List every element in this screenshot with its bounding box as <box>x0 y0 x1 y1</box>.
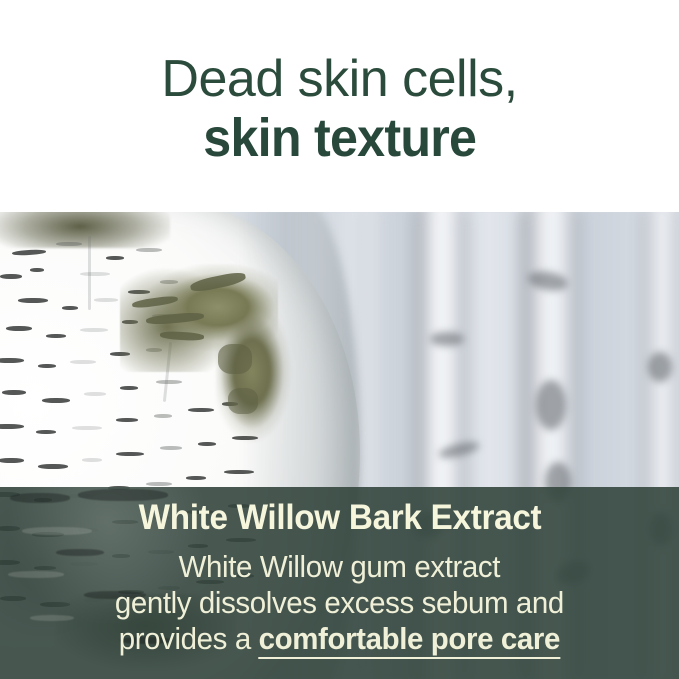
background-branch-mark <box>648 352 672 382</box>
description-line-3: provides a comfortable pore care <box>115 621 564 657</box>
bark-lenticel <box>160 446 182 450</box>
lichen-fragment <box>228 388 258 414</box>
bark-lenticel <box>224 470 254 474</box>
bark-crack <box>88 236 91 310</box>
bark-lenticel <box>62 306 78 310</box>
background-branch-mark <box>536 380 566 430</box>
ingredient-description: White Willow gum extract gently dissolve… <box>103 549 576 657</box>
bark-lenticel <box>0 358 24 363</box>
headline-line-1: Dead skin cells, <box>161 49 517 109</box>
ingredient-title: White Willow Bark Extract <box>138 496 541 540</box>
header-section: Dead skin cells, skin texture <box>0 0 679 212</box>
bark-lenticel <box>72 426 102 430</box>
bark-lenticel <box>82 458 102 462</box>
bark-lenticel <box>106 256 124 260</box>
bark-lenticel <box>36 430 56 434</box>
product-infographic: Dead skin cells, skin texture <box>0 0 679 679</box>
bark-lenticel <box>70 360 96 364</box>
bark-lenticel <box>94 298 118 302</box>
bark-lenticel <box>0 274 22 279</box>
headline-line-2: skin texture <box>203 107 476 169</box>
bark-lenticel <box>30 268 44 272</box>
bark-lenticel <box>46 334 66 338</box>
ingredient-info-panel: White Willow Bark Extract White Willow g… <box>0 487 679 679</box>
bark-lenticel <box>42 398 70 403</box>
description-line-2: gently dissolves excess sebum and <box>115 585 564 621</box>
bark-lenticel <box>56 242 82 246</box>
bark-lenticel <box>188 408 214 412</box>
bark-lenticel <box>198 442 216 446</box>
panel-content: White Willow Bark Extract White Willow g… <box>0 487 679 679</box>
bark-lenticel <box>146 482 172 486</box>
bark-lenticel <box>0 458 24 463</box>
lichen-patch-secondary <box>216 300 296 460</box>
bark-lenticel <box>38 464 68 469</box>
description-line-3-prefix: provides a <box>119 621 259 656</box>
lichen-fragment <box>218 344 252 374</box>
bark-lenticel <box>0 424 24 429</box>
bark-lenticel <box>116 452 144 456</box>
description-emphasis: comfortable pore care <box>259 621 560 659</box>
bark-lenticel <box>80 272 110 276</box>
bark-lenticel <box>186 476 206 480</box>
bark-lenticel <box>156 380 182 384</box>
bark-lenticel <box>38 364 56 368</box>
lichen-patch-top <box>0 212 170 248</box>
bark-lenticel <box>136 248 162 252</box>
bark-lenticel <box>6 326 32 331</box>
bark-lenticel <box>80 328 108 332</box>
bark-lenticel <box>84 392 106 396</box>
bark-lenticel <box>120 386 138 390</box>
bark-lenticel <box>2 390 26 395</box>
bark-lenticel <box>116 418 138 422</box>
bark-lenticel <box>12 249 46 256</box>
bark-lenticel <box>154 414 172 418</box>
description-line-1: White Willow gum extract <box>115 549 564 585</box>
background-branch-mark <box>430 332 464 346</box>
bark-lenticel <box>18 298 48 303</box>
